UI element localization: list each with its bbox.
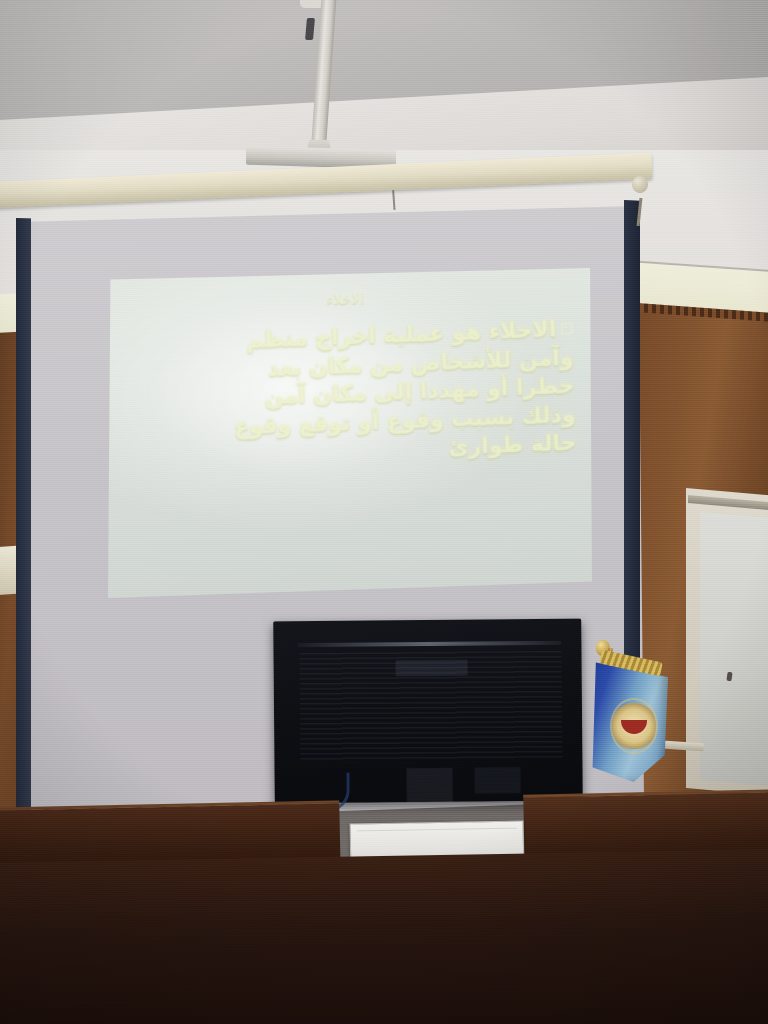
tv-mount-bracket-right bbox=[474, 767, 520, 793]
tv-mount-bracket-left bbox=[406, 768, 452, 802]
square-bullet-icon bbox=[561, 323, 572, 334]
slide-title: الاخلاء bbox=[103, 281, 587, 317]
tv-top-highlight bbox=[297, 641, 561, 647]
whiteboard-surface[interactable] bbox=[700, 512, 768, 786]
projection-screen-border-left bbox=[16, 218, 31, 818]
slide-body: الاخلاء هو عملية اخراج منظم وآمن للأشخاص… bbox=[104, 315, 593, 476]
projection-screen-roller-knob[interactable] bbox=[632, 176, 648, 193]
television[interactable] bbox=[273, 619, 583, 804]
slide-text-block: الاخلاء الاخلاء هو عملية اخراج منظم وآمن… bbox=[102, 259, 598, 607]
lecture-hall-photo: الاخلاء الاخلاء هو عملية اخراج منظم وآمن… bbox=[0, 0, 768, 1024]
podium-base bbox=[0, 849, 768, 1024]
flag-emblem-icon bbox=[612, 700, 656, 752]
tv-label-plate bbox=[396, 660, 468, 677]
projection-screen-border-right bbox=[624, 200, 640, 669]
